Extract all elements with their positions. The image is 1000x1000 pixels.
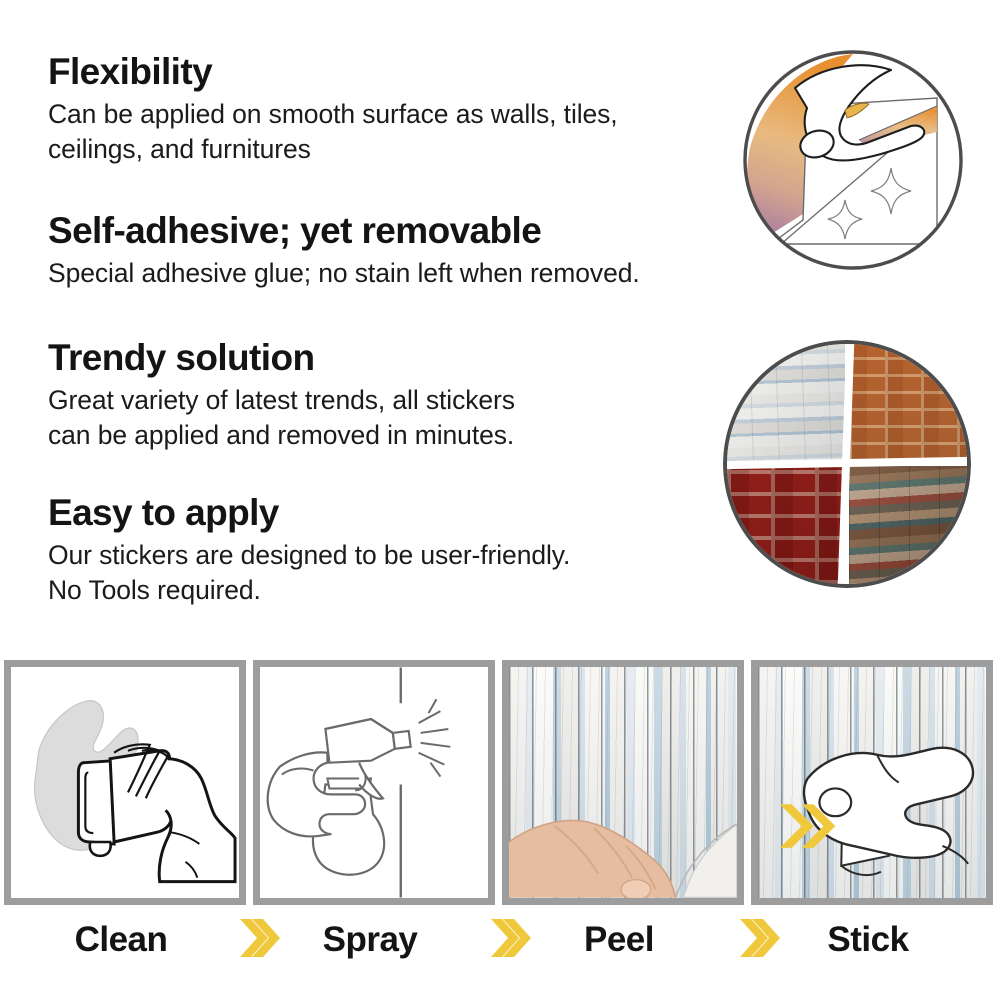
feature-description-line: Special adhesive glue; no stain left whe…	[48, 258, 640, 288]
pattern-quadrant-red-brick	[727, 466, 845, 584]
step-label-spray: Spray	[249, 920, 491, 960]
hand-pressing-sticker-icon	[758, 667, 986, 898]
feature-description: Great variety of latest trends, all stic…	[48, 383, 738, 453]
step-panel-peel	[502, 660, 744, 905]
step-label-stick: Stick	[747, 920, 989, 960]
step-panel-spray	[253, 660, 495, 905]
hand-peeling-sticker-circle-icon	[741, 48, 965, 272]
double-chevron-right-icon	[489, 916, 531, 960]
step-panel-row	[4, 660, 996, 905]
feature-description: Our stickers are designed to be user-fri…	[48, 538, 738, 608]
hand-wiping-cloth-icon	[11, 667, 239, 898]
pattern-quadrant-rustic-wood	[849, 466, 967, 584]
double-chevron-right-icon	[738, 916, 780, 960]
pattern-collage	[723, 340, 971, 588]
step-frame	[751, 660, 993, 905]
pattern-samples-circle-photo	[723, 340, 971, 588]
feature-item-easy-to-apply: Easy to apply Our stickers are designed …	[48, 493, 738, 608]
step-frame	[4, 660, 246, 905]
hand-peeling-backing-photo	[509, 667, 737, 898]
feature-item-self-adhesive: Self-adhesive; yet removable Special adh…	[48, 211, 738, 291]
feature-title: Flexibility	[48, 52, 738, 92]
double-chevron-right-icon	[238, 916, 280, 960]
feature-description: Special adhesive glue; no stain left whe…	[48, 256, 738, 291]
feature-description-line: Great variety of latest trends, all stic…	[48, 385, 515, 415]
feature-item-trendy-solution: Trendy solution Great variety of latest …	[48, 338, 738, 453]
feature-description-line: Can be applied on smooth surface as wall…	[48, 99, 618, 129]
step-panel-clean	[4, 660, 246, 905]
feature-description-line: Our stickers are designed to be user-fri…	[48, 540, 570, 570]
hand-spray-bottle-icon	[260, 667, 488, 898]
feature-description-line: can be applied and removed in minutes.	[48, 418, 738, 453]
feature-list: Flexibility Can be applied on smooth sur…	[48, 52, 738, 608]
step-label-clean: Clean	[0, 920, 242, 960]
feature-item-flexibility: Flexibility Can be applied on smooth sur…	[48, 52, 738, 167]
feature-description-line: ceilings, and furnitures	[48, 132, 738, 167]
pattern-quadrant-blue-wood	[727, 344, 845, 462]
pattern-quadrant-tan-brick	[849, 344, 967, 462]
feature-title: Easy to apply	[48, 493, 738, 533]
feature-description: Can be applied on smooth surface as wall…	[48, 97, 738, 167]
feature-title: Trendy solution	[48, 338, 738, 378]
step-frame	[502, 660, 744, 905]
step-panel-stick	[751, 660, 993, 905]
step-frame	[253, 660, 495, 905]
feature-description-line: No Tools required.	[48, 573, 738, 608]
step-label-peel: Peel	[498, 920, 740, 960]
feature-title: Self-adhesive; yet removable	[48, 211, 738, 251]
